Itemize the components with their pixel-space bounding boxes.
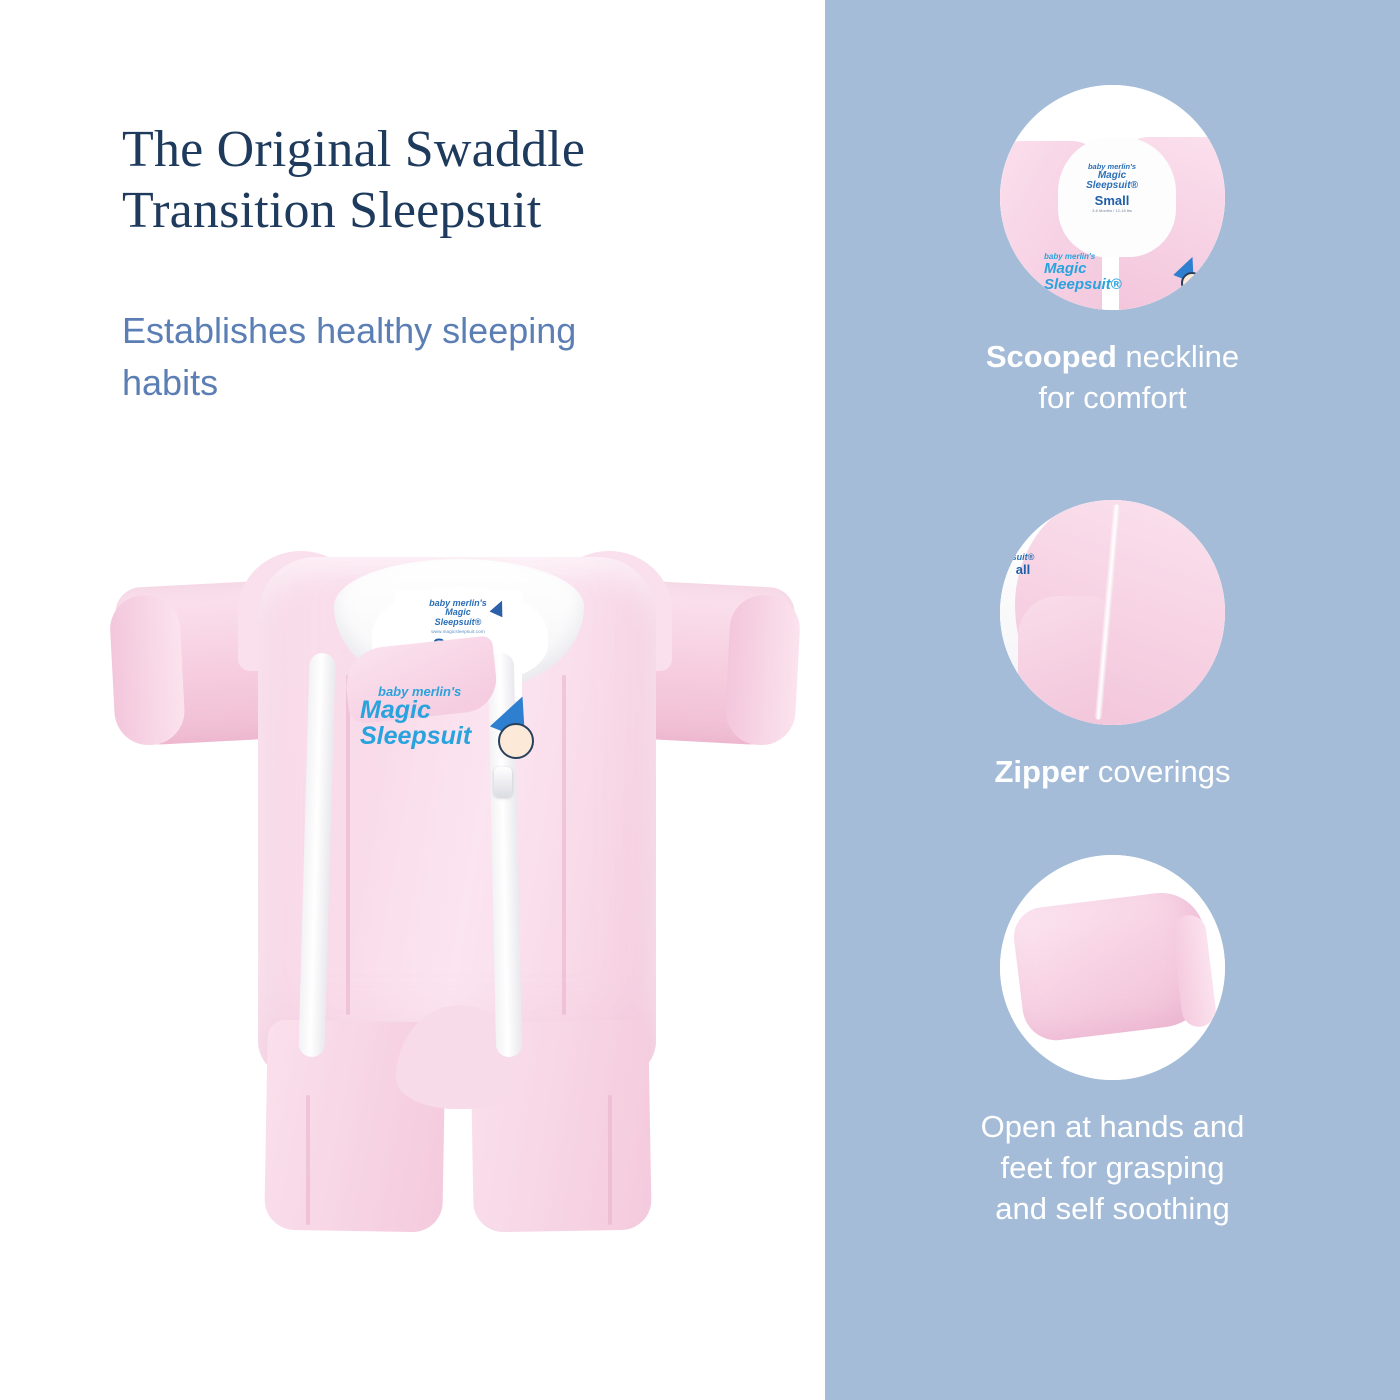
feature-3-caption: Open at hands and feet for grasping and … — [825, 1106, 1400, 1230]
page-title: The Original Swaddle Transition Sleepsui… — [122, 120, 762, 242]
inset1-care-label: baby merlin's Magic Sleepsuit® Small 3-6… — [1076, 163, 1148, 214]
wizard-face-icon — [498, 723, 534, 759]
product-hero-image: baby merlin's Magic Sleepsuit® www.magic… — [110, 535, 800, 1235]
cuff-left — [108, 593, 186, 746]
feature-2-caption: Zipper coverings — [825, 751, 1400, 792]
inset1-chest-line2: Magic — [1044, 261, 1164, 276]
seam-leg-left — [306, 1095, 310, 1225]
cuff-right — [724, 593, 802, 746]
page-subtitle: Establishes healthy sleeping habits — [122, 305, 642, 409]
wizard-hat-icon — [490, 598, 509, 617]
feature-3-caption-line3: and self soothing — [995, 1191, 1229, 1226]
inset1-fine-print: 3-6 Months / 12-18 lbs — [1076, 208, 1148, 214]
inset1-brand-main2: Sleepsuit® — [1076, 181, 1148, 192]
inset1-chest-line3: Sleepsuit® — [1044, 277, 1164, 292]
feature-open-hands-feet: Open at hands and feet for grasping and … — [825, 855, 1400, 1230]
left-panel: The Original Swaddle Transition Sleepsui… — [0, 0, 825, 1400]
feature-zipper-coverings: suit® all Zipper coverings — [825, 500, 1400, 792]
inset1-chest-logo: baby merlin's Magic Sleepsuit® — [1044, 253, 1164, 292]
wizard-face-icon — [1181, 272, 1203, 294]
seam-leg-right — [608, 1095, 612, 1225]
sleepsuit-illustration: baby merlin's Magic Sleepsuit® www.magic… — [110, 535, 800, 1235]
chest-logo: baby merlin's Magic Sleepsuit — [360, 685, 540, 749]
feature-scooped-neckline: baby merlin's Magic Sleepsuit® Small 3-6… — [825, 85, 1400, 418]
seam-right — [562, 675, 566, 1015]
inset2-partial-label: suit® all — [1000, 552, 1058, 577]
right-panel: baby merlin's Magic Sleepsuit® Small 3-6… — [825, 0, 1400, 1400]
inset-zipper-covering-closeup: suit® all — [1000, 500, 1225, 725]
feature-1-caption: Scooped neckline for comfort — [825, 336, 1400, 418]
infographic-page: The Original Swaddle Transition Sleepsui… — [0, 0, 1400, 1400]
feature-2-caption-bold: Zipper — [994, 754, 1089, 789]
zipper-pull — [494, 767, 512, 797]
feature-2-caption-rest: coverings — [1089, 754, 1230, 789]
inset-open-cuff-closeup — [1000, 855, 1225, 1080]
inset1-size: Small — [1076, 193, 1148, 208]
care-label-url: www.magicsleepsuit.com — [431, 629, 485, 634]
feature-1-caption-bold: Scooped — [986, 339, 1117, 374]
seam-left — [346, 675, 350, 1015]
inset2-label-text2: all — [1000, 562, 1058, 577]
feature-3-caption-line1: Open at hands and — [981, 1109, 1245, 1144]
feature-3-caption-line2: feet for grasping — [1000, 1150, 1224, 1185]
feature-1-caption-line2: for comfort — [1038, 380, 1186, 415]
inset-neckline-closeup: baby merlin's Magic Sleepsuit® Small 3-6… — [1000, 85, 1225, 310]
care-label-brand-main2: Sleepsuit® — [435, 618, 482, 627]
inset2-label-text1: suit® — [1000, 552, 1058, 562]
feature-1-caption-rest: neckline — [1117, 339, 1239, 374]
